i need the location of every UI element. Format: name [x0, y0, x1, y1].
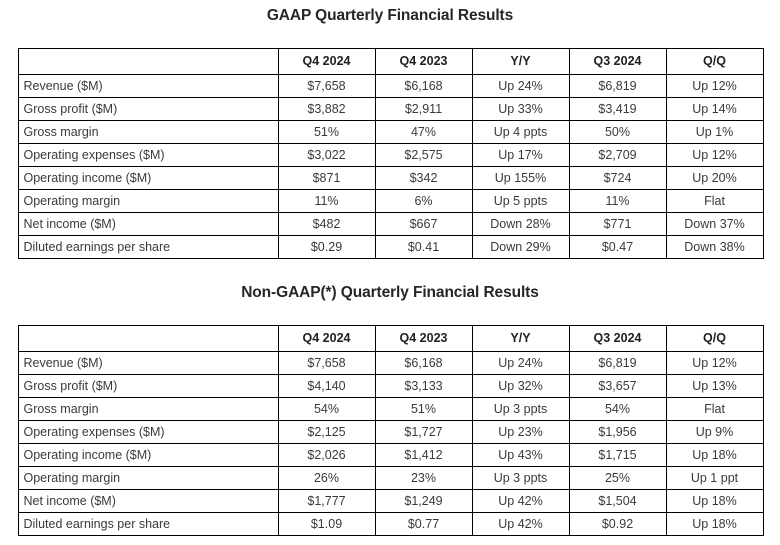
gaap-table-wrapper: Q4 2024 Q4 2023 Y/Y Q3 2024 Q/Q Revenue …	[18, 26, 763, 259]
table-row: Revenue ($M) $7,658 $6,168 Up 24% $6,819…	[18, 352, 763, 375]
cell-q4-2024: $0.29	[278, 236, 375, 259]
table-header-row: Q4 2024 Q4 2023 Y/Y Q3 2024 Q/Q	[18, 326, 763, 352]
column-header-q4-2024: Q4 2024	[278, 326, 375, 352]
cell-q3-2024: $6,819	[569, 352, 666, 375]
row-label: Gross margin	[18, 121, 278, 144]
cell-yoy: Up 4 ppts	[472, 121, 569, 144]
cell-q4-2024: $1,777	[278, 490, 375, 513]
nongaap-table-body: Revenue ($M) $7,658 $6,168 Up 24% $6,819…	[18, 352, 763, 536]
row-label: Gross profit ($M)	[18, 98, 278, 121]
cell-q4-2023: $2,575	[375, 144, 472, 167]
row-label: Diluted earnings per share	[18, 236, 278, 259]
table-row: Net income ($M) $482 $667 Down 28% $771 …	[18, 213, 763, 236]
cell-q3-2024: 50%	[569, 121, 666, 144]
nongaap-table-header: Q4 2024 Q4 2023 Y/Y Q3 2024 Q/Q	[18, 326, 763, 352]
cell-q3-2024: $1,504	[569, 490, 666, 513]
column-header-metric	[18, 49, 278, 75]
cell-yoy: Up 24%	[472, 352, 569, 375]
cell-qoq: Flat	[666, 190, 763, 213]
cell-qoq: Down 38%	[666, 236, 763, 259]
cell-q4-2024: $7,658	[278, 75, 375, 98]
column-header-yoy: Y/Y	[472, 326, 569, 352]
nongaap-financial-table: Q4 2024 Q4 2023 Y/Y Q3 2024 Q/Q Revenue …	[18, 325, 764, 536]
cell-q4-2024: $1.09	[278, 513, 375, 536]
cell-q4-2024: 26%	[278, 467, 375, 490]
cell-q4-2023: 6%	[375, 190, 472, 213]
column-header-q4-2024: Q4 2024	[278, 49, 375, 75]
cell-q4-2023: 47%	[375, 121, 472, 144]
cell-qoq: Up 13%	[666, 375, 763, 398]
cell-qoq: Flat	[666, 398, 763, 421]
cell-yoy: Up 3 ppts	[472, 467, 569, 490]
cell-q3-2024: $724	[569, 167, 666, 190]
row-label: Gross margin	[18, 398, 278, 421]
cell-yoy: Up 42%	[472, 513, 569, 536]
cell-q4-2023: $6,168	[375, 75, 472, 98]
table-row: Operating margin 11% 6% Up 5 ppts 11% Fl…	[18, 190, 763, 213]
cell-yoy: Up 43%	[472, 444, 569, 467]
gaap-table-title: GAAP Quarterly Financial Results	[0, 0, 780, 26]
cell-q3-2024: $3,419	[569, 98, 666, 121]
cell-q4-2024: $2,125	[278, 421, 375, 444]
cell-qoq: Up 20%	[666, 167, 763, 190]
gaap-results-section: GAAP Quarterly Financial Results Q4 2024…	[0, 0, 780, 259]
cell-q3-2024: $0.92	[569, 513, 666, 536]
column-header-yoy: Y/Y	[472, 49, 569, 75]
cell-q4-2023: $1,249	[375, 490, 472, 513]
row-label: Operating expenses ($M)	[18, 421, 278, 444]
cell-q4-2023: 23%	[375, 467, 472, 490]
cell-qoq: Up 12%	[666, 352, 763, 375]
table-row: Operating income ($M) $2,026 $1,412 Up 4…	[18, 444, 763, 467]
table-row: Operating expenses ($M) $2,125 $1,727 Up…	[18, 421, 763, 444]
table-row: Revenue ($M) $7,658 $6,168 Up 24% $6,819…	[18, 75, 763, 98]
column-header-q4-2023: Q4 2023	[375, 326, 472, 352]
row-label: Revenue ($M)	[18, 75, 278, 98]
row-label: Operating income ($M)	[18, 444, 278, 467]
nongaap-results-section: Non-GAAP(*) Quarterly Financial Results …	[0, 277, 780, 536]
cell-qoq: Up 1 ppt	[666, 467, 763, 490]
cell-qoq: Up 18%	[666, 490, 763, 513]
cell-yoy: Up 33%	[472, 98, 569, 121]
row-label: Revenue ($M)	[18, 352, 278, 375]
cell-q3-2024: $2,709	[569, 144, 666, 167]
row-label: Operating margin	[18, 467, 278, 490]
cell-q4-2024: $3,882	[278, 98, 375, 121]
table-row: Operating income ($M) $871 $342 Up 155% …	[18, 167, 763, 190]
table-row: Gross margin 54% 51% Up 3 ppts 54% Flat	[18, 398, 763, 421]
cell-q4-2023: $6,168	[375, 352, 472, 375]
cell-q4-2023: $342	[375, 167, 472, 190]
row-label: Net income ($M)	[18, 490, 278, 513]
cell-qoq: Down 37%	[666, 213, 763, 236]
cell-q4-2023: 51%	[375, 398, 472, 421]
cell-q4-2024: 51%	[278, 121, 375, 144]
cell-q4-2024: $871	[278, 167, 375, 190]
row-label: Gross profit ($M)	[18, 375, 278, 398]
table-row: Net income ($M) $1,777 $1,249 Up 42% $1,…	[18, 490, 763, 513]
cell-q4-2023: $3,133	[375, 375, 472, 398]
cell-q4-2024: 11%	[278, 190, 375, 213]
row-label: Diluted earnings per share	[18, 513, 278, 536]
cell-q4-2023: $0.41	[375, 236, 472, 259]
cell-q4-2024: $2,026	[278, 444, 375, 467]
cell-q4-2023: $667	[375, 213, 472, 236]
column-header-qoq: Q/Q	[666, 326, 763, 352]
cell-qoq: Up 12%	[666, 144, 763, 167]
cell-q3-2024: $3,657	[569, 375, 666, 398]
cell-yoy: Up 155%	[472, 167, 569, 190]
cell-q4-2024: 54%	[278, 398, 375, 421]
cell-qoq: Up 1%	[666, 121, 763, 144]
row-label: Operating margin	[18, 190, 278, 213]
cell-yoy: Up 32%	[472, 375, 569, 398]
cell-q3-2024: $6,819	[569, 75, 666, 98]
row-label: Net income ($M)	[18, 213, 278, 236]
cell-q4-2023: $1,412	[375, 444, 472, 467]
cell-qoq: Up 14%	[666, 98, 763, 121]
table-row: Operating expenses ($M) $3,022 $2,575 Up…	[18, 144, 763, 167]
cell-qoq: Up 18%	[666, 513, 763, 536]
column-header-q4-2023: Q4 2023	[375, 49, 472, 75]
cell-q3-2024: 25%	[569, 467, 666, 490]
gaap-table-body: Revenue ($M) $7,658 $6,168 Up 24% $6,819…	[18, 75, 763, 259]
cell-q4-2024: $482	[278, 213, 375, 236]
column-header-metric	[18, 326, 278, 352]
column-header-qoq: Q/Q	[666, 49, 763, 75]
cell-q3-2024: $1,715	[569, 444, 666, 467]
cell-qoq: Up 9%	[666, 421, 763, 444]
cell-q3-2024: 54%	[569, 398, 666, 421]
row-label: Operating income ($M)	[18, 167, 278, 190]
cell-yoy: Down 29%	[472, 236, 569, 259]
cell-yoy: Up 42%	[472, 490, 569, 513]
cell-q4-2024: $7,658	[278, 352, 375, 375]
table-row: Gross profit ($M) $4,140 $3,133 Up 32% $…	[18, 375, 763, 398]
cell-q3-2024: $1,956	[569, 421, 666, 444]
cell-q4-2023: $2,911	[375, 98, 472, 121]
cell-yoy: Up 17%	[472, 144, 569, 167]
cell-yoy: Down 28%	[472, 213, 569, 236]
cell-q4-2023: $1,727	[375, 421, 472, 444]
cell-q3-2024: $771	[569, 213, 666, 236]
cell-yoy: Up 23%	[472, 421, 569, 444]
gaap-financial-table: Q4 2024 Q4 2023 Y/Y Q3 2024 Q/Q Revenue …	[18, 48, 764, 259]
cell-qoq: Up 18%	[666, 444, 763, 467]
cell-q4-2023: $0.77	[375, 513, 472, 536]
column-header-q3-2024: Q3 2024	[569, 326, 666, 352]
cell-q4-2024: $4,140	[278, 375, 375, 398]
nongaap-table-wrapper: Q4 2024 Q4 2023 Y/Y Q3 2024 Q/Q Revenue …	[18, 303, 763, 536]
column-header-q3-2024: Q3 2024	[569, 49, 666, 75]
cell-yoy: Up 5 ppts	[472, 190, 569, 213]
table-row: Gross profit ($M) $3,882 $2,911 Up 33% $…	[18, 98, 763, 121]
table-row: Operating margin 26% 23% Up 3 ppts 25% U…	[18, 467, 763, 490]
nongaap-table-title: Non-GAAP(*) Quarterly Financial Results	[0, 277, 780, 303]
table-header-row: Q4 2024 Q4 2023 Y/Y Q3 2024 Q/Q	[18, 49, 763, 75]
cell-qoq: Up 12%	[666, 75, 763, 98]
cell-yoy: Up 3 ppts	[472, 398, 569, 421]
cell-q3-2024: $0.47	[569, 236, 666, 259]
cell-yoy: Up 24%	[472, 75, 569, 98]
row-label: Operating expenses ($M)	[18, 144, 278, 167]
table-row: Diluted earnings per share $0.29 $0.41 D…	[18, 236, 763, 259]
gaap-table-header: Q4 2024 Q4 2023 Y/Y Q3 2024 Q/Q	[18, 49, 763, 75]
table-row: Gross margin 51% 47% Up 4 ppts 50% Up 1%	[18, 121, 763, 144]
table-row: Diluted earnings per share $1.09 $0.77 U…	[18, 513, 763, 536]
cell-q3-2024: 11%	[569, 190, 666, 213]
cell-q4-2024: $3,022	[278, 144, 375, 167]
